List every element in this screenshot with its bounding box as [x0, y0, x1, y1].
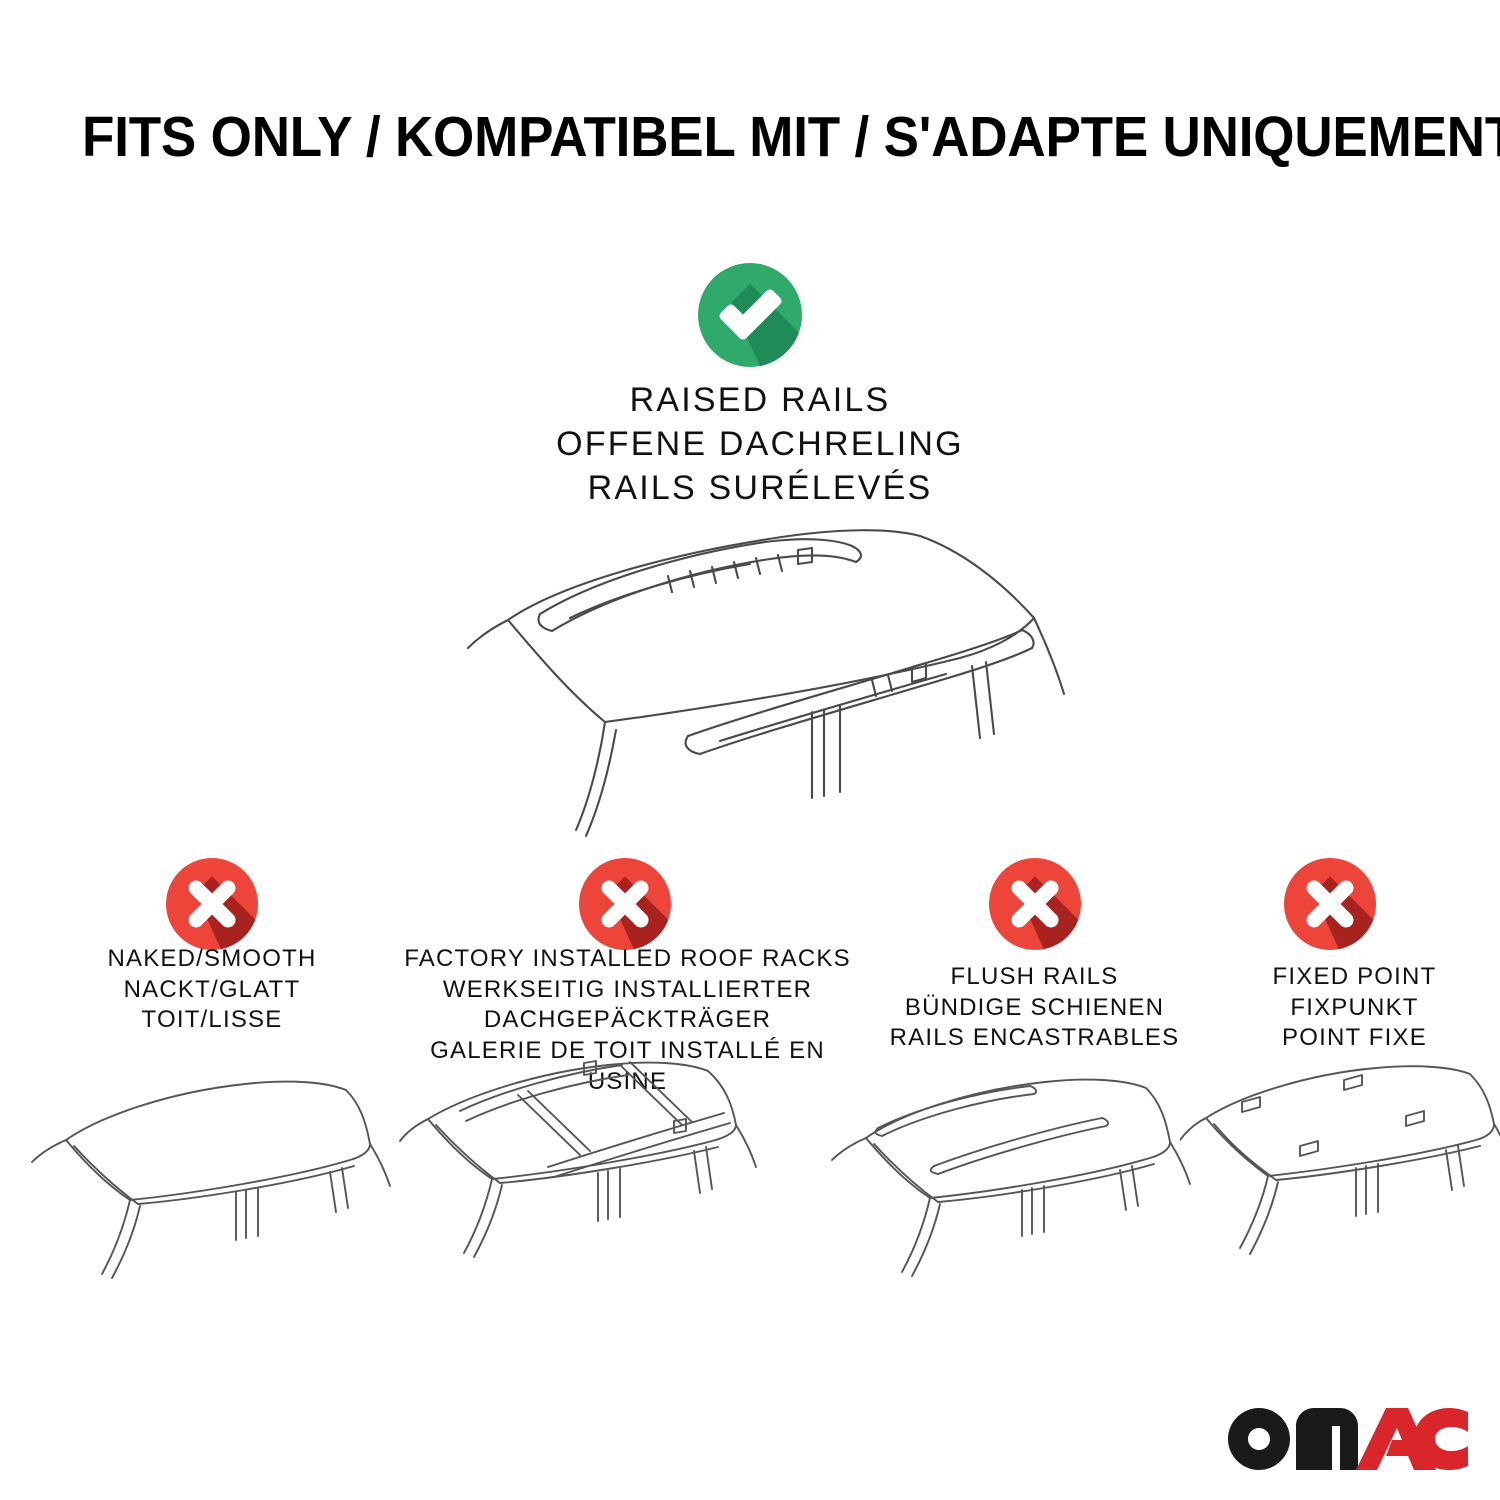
caption-4-line-1: FIXED POINT: [1212, 962, 1497, 993]
compatible-caption: RAISED RAILS OFFENE DACHRELING RAILS SUR…: [460, 378, 1060, 511]
caption-4-line-3: POINT FIXE: [1212, 1023, 1497, 1054]
page-title: FITS ONLY / KOMPATIBEL MIT / S'ADAPTE UN…: [82, 104, 1328, 170]
caption-3-line-3: RAILS ENCASTRABLES: [862, 1023, 1207, 1054]
logo-letter-o: [1228, 1408, 1290, 1470]
car-roof-naked-smooth-illustration: [30, 1060, 420, 1290]
fitment-infographic: FITS ONLY / KOMPATIBEL MIT / S'ADAPTE UN…: [0, 0, 1500, 1500]
red-cross-circle-icon: [1284, 858, 1376, 950]
caption-2-line-2: WERKSEITIG INSTALLIERTER: [395, 975, 860, 1006]
car-roof-factory-installed-roof-racks-illustration: [398, 1055, 808, 1290]
caption-1-line-2: NACKT/GLATT: [32, 975, 392, 1006]
compatible-label-en: RAISED RAILS: [460, 378, 1060, 422]
caption-1-line-1: NAKED/SMOOTH: [32, 944, 392, 975]
compatible-label-de: OFFENE DACHRELING: [460, 422, 1060, 466]
car-roof-with-raised-rails-illustration: [420, 498, 1100, 848]
incompatible-caption-3: FLUSH RAILS BÜNDIGE SCHIENEN RAILS ENCAS…: [862, 962, 1207, 1054]
red-cross-circle-icon: [166, 858, 258, 950]
caption-4-line-2: FIXPUNKT: [1212, 993, 1497, 1024]
car-roof-flush-rails-illustration: [830, 1060, 1220, 1290]
caption-1-line-3: TOIT/LISSE: [32, 1005, 392, 1036]
car-roof-fixed-point-illustration: [1180, 1060, 1500, 1290]
red-cross-circle-icon: [579, 858, 671, 950]
logo-letter-m: [1296, 1408, 1358, 1470]
green-check-circle-icon: [698, 263, 802, 367]
omac-logo: [1228, 1408, 1468, 1470]
caption-2-line-3: DACHGEPÄCKTRÄGER: [395, 1005, 860, 1036]
caption-3-line-2: BÜNDIGE SCHIENEN: [862, 993, 1207, 1024]
incompatible-caption-1: NAKED/SMOOTH NACKT/GLATT TOIT/LISSE: [32, 944, 392, 1036]
incompatible-caption-4: FIXED POINT FIXPUNKT POINT FIXE: [1212, 962, 1497, 1054]
red-cross-circle-icon: [989, 858, 1081, 950]
caption-2-line-1: FACTORY INSTALLED ROOF RACKS: [395, 944, 860, 975]
caption-3-line-1: FLUSH RAILS: [862, 962, 1207, 993]
